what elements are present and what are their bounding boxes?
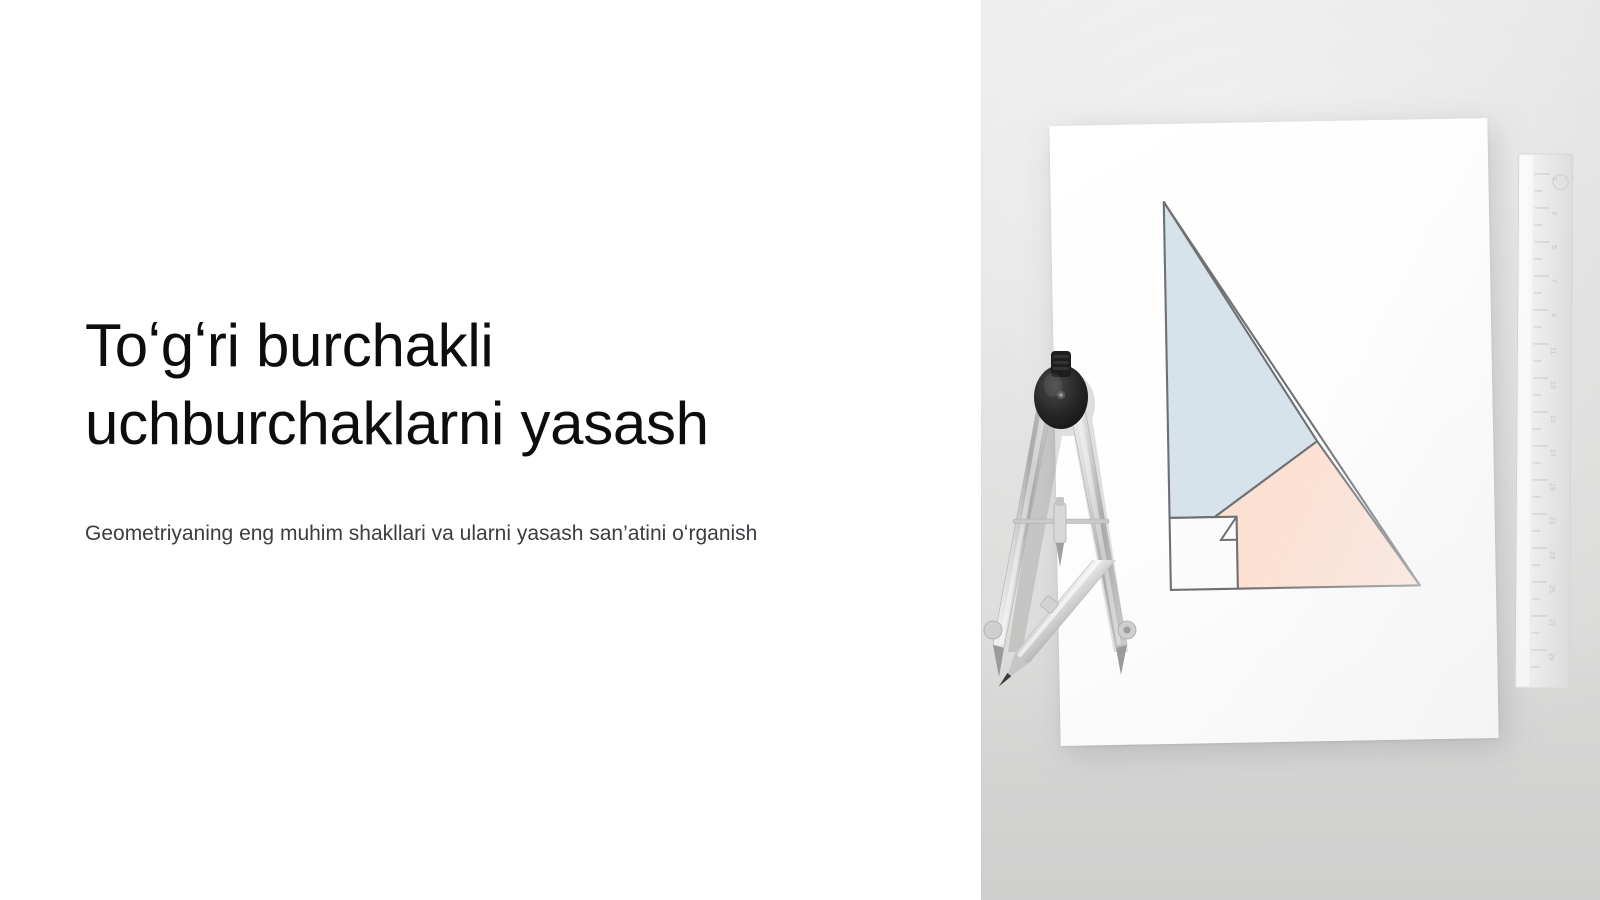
svg-text:29: 29: [1547, 653, 1554, 661]
page-title: Toʻgʻri burchakli uchburchaklarni yasash: [85, 307, 805, 463]
right-angle-square-shape: [1170, 517, 1238, 590]
svg-text:15: 15: [1549, 415, 1556, 423]
text-panel: Toʻgʻri burchakli uchburchaklarni yasash…: [0, 0, 981, 900]
svg-text:3: 3: [1550, 211, 1557, 215]
svg-text:1: 1: [1551, 177, 1558, 181]
svg-text:13: 13: [1549, 381, 1556, 389]
svg-text:9: 9: [1550, 313, 1557, 317]
title-block: Toʻgʻri burchakli uchburchaklarni yasash…: [85, 307, 911, 554]
mechanical-pencil: [981, 560, 1119, 730]
pencil-icon: [981, 560, 1119, 730]
svg-text:17: 17: [1549, 449, 1556, 457]
svg-text:11: 11: [1549, 347, 1556, 354]
svg-text:7: 7: [1550, 279, 1557, 283]
ruler-icon: 1 3 5 7 9 11 13 15 17 19 21 23 25 27 29: [1513, 150, 1575, 690]
svg-text:23: 23: [1548, 551, 1555, 559]
svg-text:21: 21: [1548, 517, 1555, 525]
svg-text:5: 5: [1550, 245, 1557, 249]
transparent-ruler: 1 3 5 7 9 11 13 15 17 19 21 23 25 27 29: [1513, 150, 1575, 690]
image-panel: 1 3 5 7 9 11 13 15 17 19 21 23 25 27 29: [981, 0, 1600, 900]
svg-text:19: 19: [1549, 483, 1556, 491]
page-subtitle: Geometriyaning eng muhim shakllari va ul…: [85, 515, 800, 554]
compass-adjust-screw: [1054, 503, 1066, 543]
svg-text:25: 25: [1548, 585, 1555, 593]
svg-text:27: 27: [1548, 619, 1555, 627]
slide-root: Toʻgʻri burchakli uchburchaklarni yasash…: [0, 0, 1600, 900]
